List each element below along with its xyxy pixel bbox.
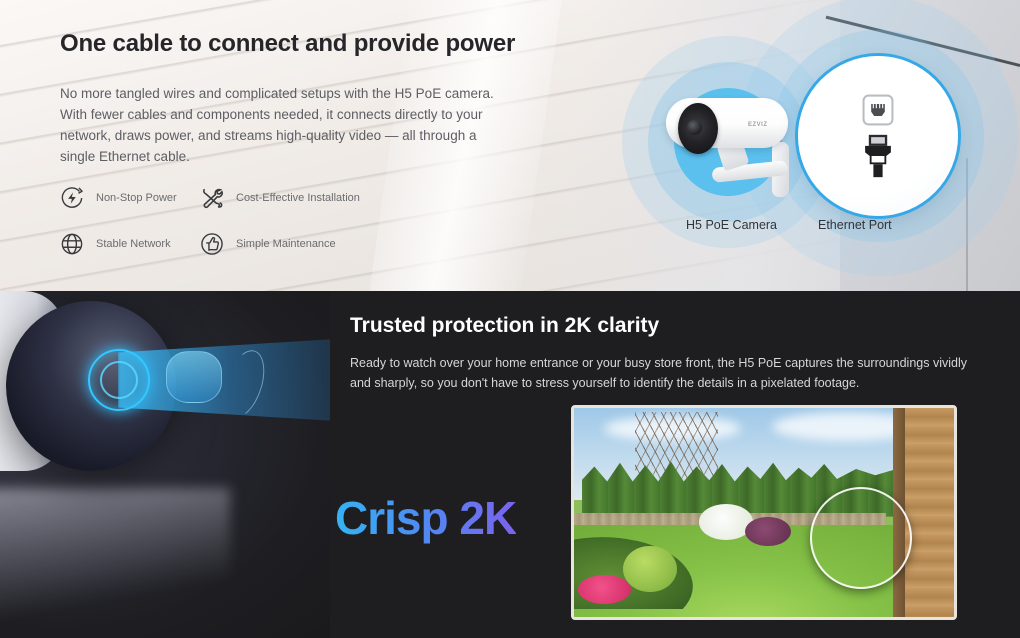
crisp-2k-highlight: Crisp 2K: [335, 491, 516, 545]
rj45-jack-icon: [861, 93, 895, 127]
feature-item-non-stop-power: Non-Stop Power: [58, 184, 198, 212]
feature-label: Stable Network: [96, 238, 171, 250]
ethernet-port-circle: [798, 56, 958, 216]
garden-sample-photo: [571, 405, 957, 620]
rj45-plug-icon: [859, 133, 897, 179]
top-body-text: No more tangled wires and complicated se…: [60, 84, 505, 168]
top-text-block: One cable to connect and provide power N…: [60, 30, 530, 168]
camera-lens: [678, 103, 718, 154]
purple-shrub: [745, 517, 791, 546]
camera-brand-mark: EZVIZ: [748, 122, 768, 128]
shrub: [623, 546, 676, 592]
house-siding-right: [905, 408, 954, 617]
photo-content: [574, 408, 954, 617]
tools-icon: [198, 184, 226, 212]
feature-label: Non-Stop Power: [96, 192, 177, 204]
page-title: One cable to connect and provide power: [60, 30, 530, 58]
beam-cylinder: [166, 351, 222, 403]
feature-item-simple-maintenance: Simple Maintenance: [198, 230, 398, 258]
feature-item-cost-effective-installation: Cost-Effective Installation: [198, 184, 398, 212]
poe-power-section: One cable to connect and provide power N…: [0, 0, 1020, 291]
power-bolt-icon: [58, 184, 86, 212]
globe-network-icon: [58, 230, 86, 258]
feature-item-stable-network: Stable Network: [58, 230, 198, 258]
camera-barrel: EZVIZ: [666, 98, 788, 148]
lens-floor-glow: [0, 488, 230, 638]
poe-connection-diagram: EZVIZ: [600, 0, 1020, 291]
h5-poe-camera-image: EZVIZ: [648, 92, 816, 210]
camera-lens-beam-graphic: [0, 291, 330, 638]
feature-list: Non-Stop Power Cost-Effective Installati…: [58, 184, 398, 258]
section-body-2k: Ready to watch over your home entrance o…: [350, 353, 970, 393]
section-title-2k: Trusted protection in 2K clarity: [350, 314, 659, 338]
ethernet-port-caption: Ethernet Port: [818, 218, 892, 232]
lens-glow-ring-inner: [100, 361, 138, 399]
camera-caption: H5 PoE Camera: [686, 218, 777, 232]
feature-label: Cost-Effective Installation: [236, 192, 360, 204]
thumbs-up-icon: [198, 230, 226, 258]
zoom-inset-circle: [810, 487, 912, 589]
feature-label: Simple Maintenance: [236, 238, 336, 250]
product-page: One cable to connect and provide power N…: [0, 0, 1020, 638]
